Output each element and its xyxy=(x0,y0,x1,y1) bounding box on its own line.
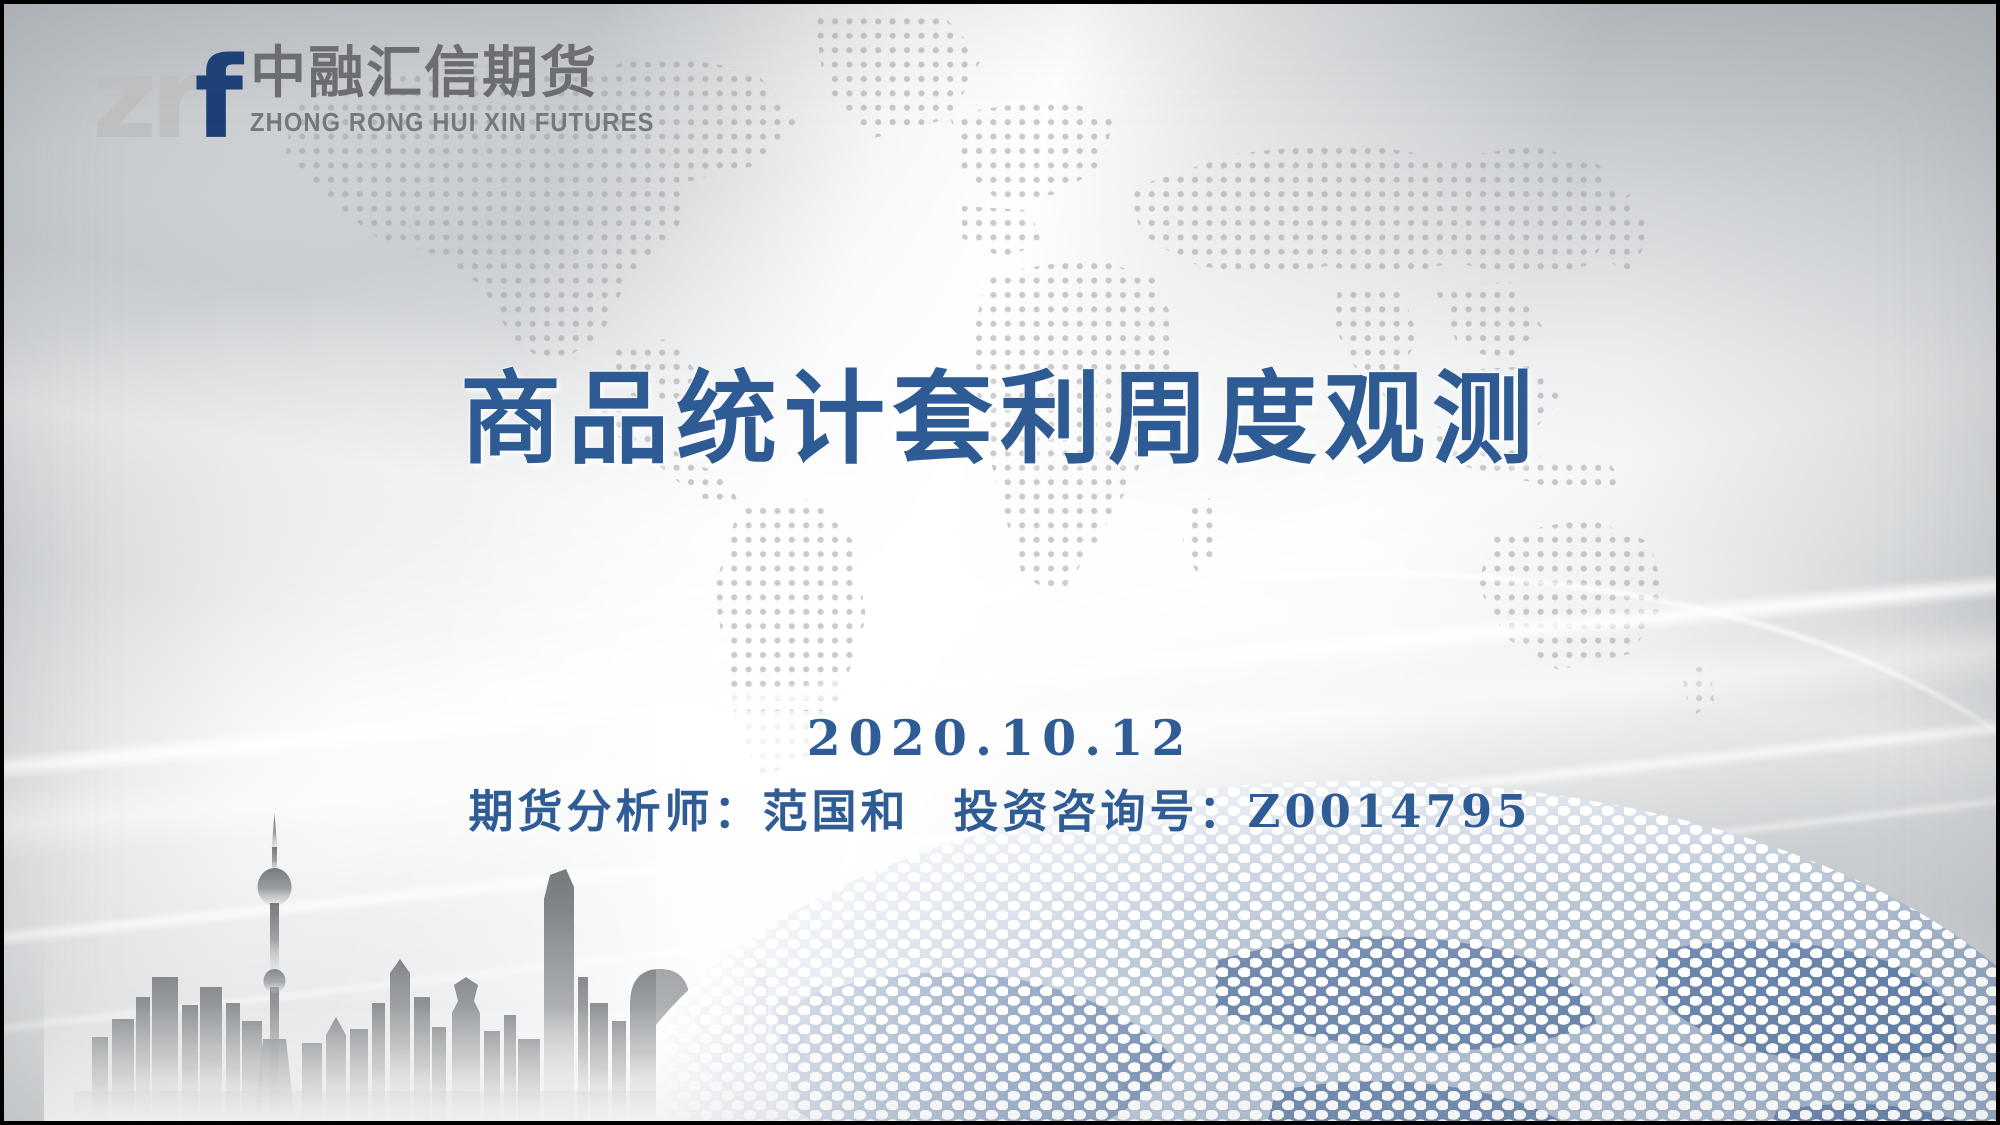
company-logo: zrf 中 融 汇 信 期 货 ZHONG RONG HUI XIN FUTUR… xyxy=(92,46,685,146)
license-number: Z0014795 xyxy=(1248,785,1532,838)
analyst-credentials-line: 期货分析师：范国和投资咨询号：Z0014795 xyxy=(4,775,1996,840)
logomark-f-text: f xyxy=(194,52,236,146)
company-name-en: ZHONG RONG HUI XIN FUTURES xyxy=(250,109,655,138)
background-secondary-sheen xyxy=(4,4,1996,1121)
company-name-cn: 中 融 汇 信 期 货 xyxy=(250,46,685,102)
analyst-label: 期货分析师： xyxy=(468,785,762,838)
title-slide: zrf 中 融 汇 信 期 货 ZHONG RONG HUI XIN FUTUR… xyxy=(0,0,2000,1125)
company-name-cn-char: 期 xyxy=(482,46,538,102)
analyst-name: 范国和 xyxy=(762,785,909,838)
company-name-cn-char: 信 xyxy=(424,46,480,102)
zrf-logomark-icon: zrf xyxy=(92,52,236,146)
logomark-zr-text: zr xyxy=(92,52,198,146)
logo-wordmark: 中 融 汇 信 期 货 ZHONG RONG HUI XIN FUTURES xyxy=(250,46,685,146)
slide-title-text: 商品统计套利周度观测 xyxy=(460,359,1540,478)
slide-subtitle-block: 2020.10.12 期货分析师：范国和投资咨询号：Z0014795 xyxy=(4,709,1996,840)
slide-title: 商品统计套利周度观测 xyxy=(4,362,1996,475)
presentation-date: 2020.10.12 xyxy=(4,709,1996,767)
license-label: 投资咨询号： xyxy=(953,785,1247,838)
company-name-cn-char: 货 xyxy=(540,46,596,102)
company-name-cn-char: 融 xyxy=(308,46,364,102)
company-name-cn-char: 汇 xyxy=(366,46,422,102)
company-name-cn-char: 中 xyxy=(250,46,306,102)
